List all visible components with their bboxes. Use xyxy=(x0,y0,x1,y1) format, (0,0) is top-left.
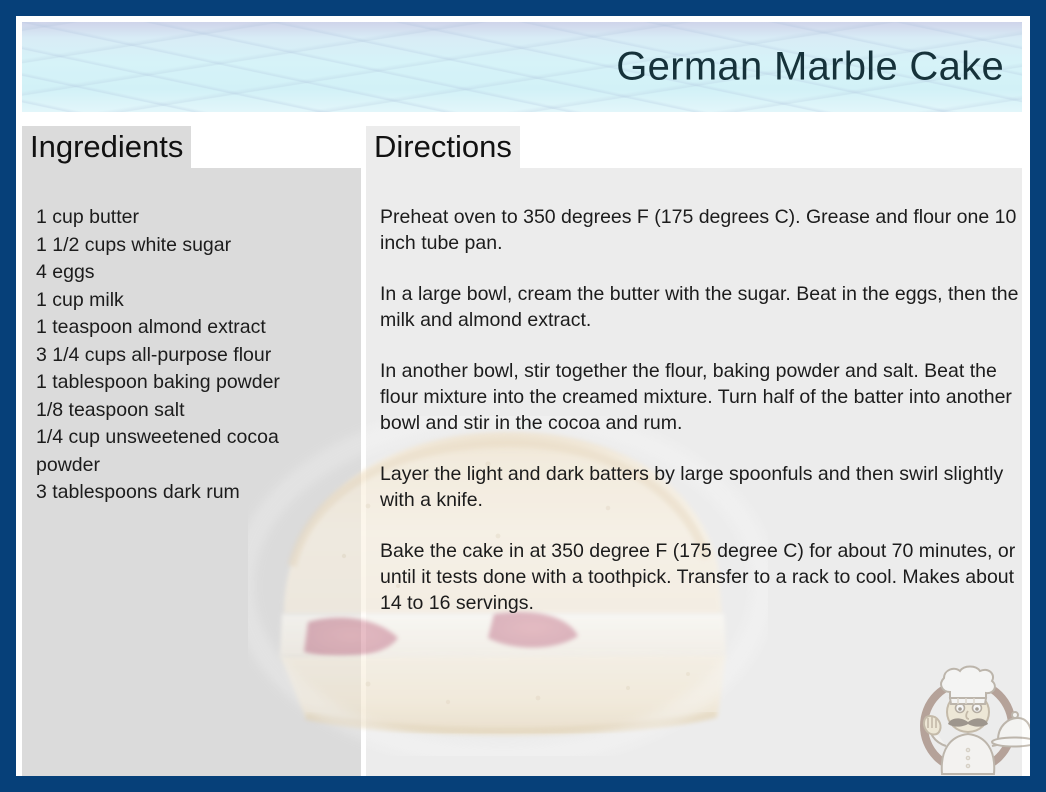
recipe-canvas: German Marble Cake xyxy=(16,16,1030,776)
list-item: 3 tablespoons dark rum xyxy=(36,479,346,507)
direction-step: Preheat oven to 350 degrees F (175 degre… xyxy=(380,204,1028,256)
list-item: 1 tablespoon baking powder xyxy=(36,369,346,397)
list-item: 4 eggs xyxy=(36,259,346,287)
directions-heading: Directions xyxy=(366,126,520,168)
header-banner: German Marble Cake xyxy=(22,22,1022,112)
list-item: 1 teaspoon almond extract xyxy=(36,314,346,342)
ingredients-list: 1 cup butter 1 1/2 cups white sugar 4 eg… xyxy=(36,204,346,507)
list-item: 1/8 teaspoon salt xyxy=(36,397,346,425)
list-item: 1 1/2 cups white sugar xyxy=(36,232,346,260)
list-item: 3 1/4 cups all-purpose flour xyxy=(36,342,346,370)
list-item: 1 cup milk xyxy=(36,287,346,315)
direction-step: Layer the light and dark batters by larg… xyxy=(380,461,1028,513)
ingredients-heading: Ingredients xyxy=(22,126,191,168)
page-title: German Marble Cake xyxy=(616,45,1004,90)
direction-step: Bake the cake in at 350 degree F (175 de… xyxy=(380,538,1028,616)
direction-step: In another bowl, stir together the flour… xyxy=(380,358,1028,436)
directions-text: Preheat oven to 350 degrees F (175 degre… xyxy=(380,204,1028,616)
list-item: 1/4 cup unsweetened cocoa powder xyxy=(36,424,346,479)
recipe-card: German Marble Cake xyxy=(0,0,1046,792)
list-item: 1 cup butter xyxy=(36,204,346,232)
direction-step: In a large bowl, cream the butter with t… xyxy=(380,281,1028,333)
